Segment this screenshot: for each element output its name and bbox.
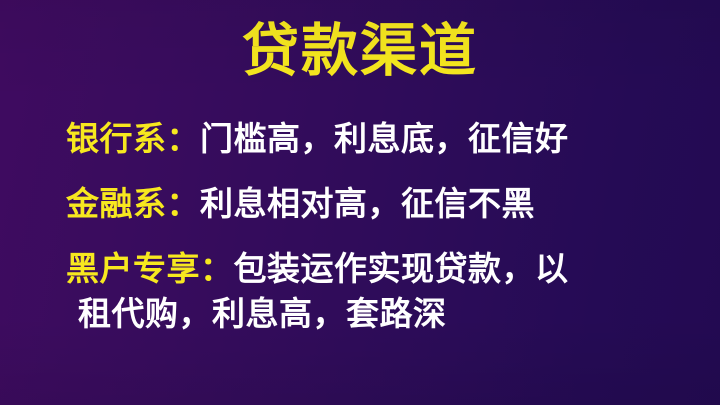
list-item-bank-label: 银行系： bbox=[66, 119, 200, 158]
list-item-blacklist-label: 黑户专享： bbox=[66, 249, 234, 288]
list-item-finance: 金融系：利息相对高，征信不黑 bbox=[66, 187, 666, 220]
list-item-blacklist-continuation: 租代购，利息高，套路深 bbox=[66, 297, 666, 330]
list-item-finance-label: 金融系： bbox=[66, 184, 200, 223]
slide-canvas: 贷款渠道 银行系：门槛高，利息底，征信好 金融系：利息相对高，征信不黑 黑户专享… bbox=[0, 0, 720, 405]
list-item-finance-value: 利息相对高，征信不黑 bbox=[200, 184, 535, 223]
list-item-bank-value: 门槛高，利息底，征信好 bbox=[200, 119, 569, 158]
list-item-blacklist: 黑户专享：包装运作实现贷款，以 bbox=[66, 252, 666, 285]
list-item-bank: 银行系：门槛高，利息底，征信好 bbox=[66, 122, 666, 155]
list-item-blacklist-continuation-text: 租代购，利息高，套路深 bbox=[78, 294, 447, 333]
page-title: 贷款渠道 bbox=[242, 18, 478, 84]
title-container: 贷款渠道 bbox=[0, 18, 720, 84]
content-list: 银行系：门槛高，利息底，征信好 金融系：利息相对高，征信不黑 黑户专享：包装运作… bbox=[66, 112, 666, 330]
list-item-blacklist-value: 包装运作实现贷款，以 bbox=[234, 249, 569, 288]
